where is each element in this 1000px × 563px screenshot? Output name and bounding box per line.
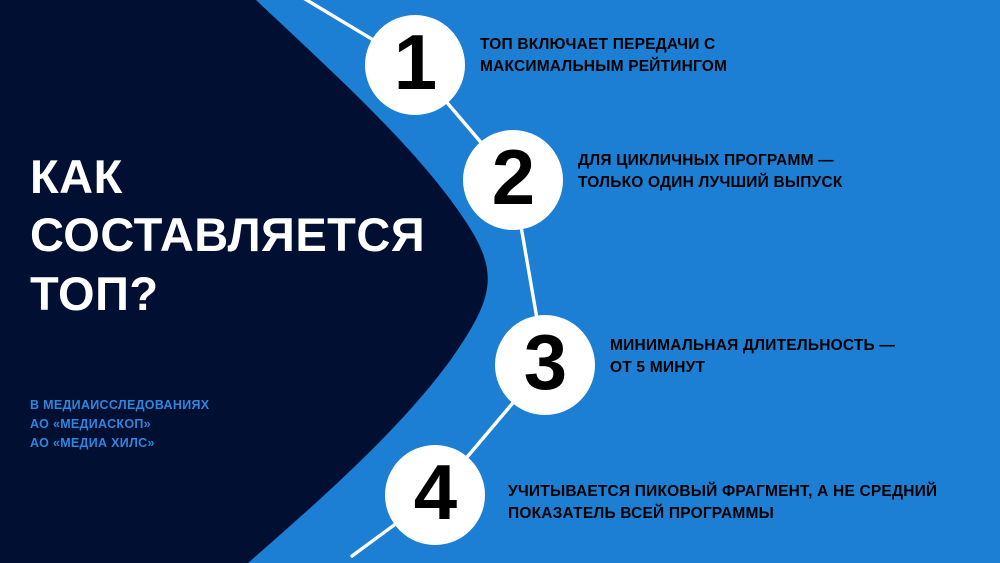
step-text-4: УЧИТЫВАЕТСЯ ПИКОВЫЙ ФРАГМЕНТ, А НЕ СРЕДН… [508,481,937,525]
step-number-3: 3 [524,323,566,401]
step-text-2-line-1: ДЛЯ ЦИКЛИЧНЫХ ПРОГРАММ — [578,150,843,172]
step-text-1-line-1: ТОП ВКЛЮЧАЕТ ПЕРЕДАЧИ С [480,34,727,56]
step-circle-4[interactable]: 4 [385,445,485,545]
title-line-3: ТОП? [30,265,430,323]
step-number-4: 4 [414,453,456,531]
source-line-1: В МЕДИАИССЛЕДОВАНИЯХ [30,396,209,415]
infographic-slide: КАК СОСТАВЛЯЕТСЯ ТОП? В МЕДИАИССЛЕДОВАНИ… [0,0,1000,563]
step-circle-2[interactable]: 2 [463,130,563,230]
step-text-4-line-2: ПОКАЗАТЕЛЬ ВСЕЙ ПРОГРАММЫ [508,503,937,525]
page-title: КАК СОСТАВЛЯЕТСЯ ТОП? [30,148,430,323]
source-caption: В МЕДИАИССЛЕДОВАНИЯХ АО «МЕДИАСКОП» АО «… [30,396,209,453]
step-text-3-line-2: ОТ 5 МИНУТ [610,357,895,379]
step-text-1: ТОП ВКЛЮЧАЕТ ПЕРЕДАЧИ С МАКСИМАЛЬНЫМ РЕЙ… [480,34,727,78]
title-line-1: КАК [30,148,430,206]
step-circle-3[interactable]: 3 [495,315,595,415]
source-line-3: АО «МЕДИА ХИЛС» [30,434,209,453]
step-text-2-line-2: ТОЛЬКО ОДИН ЛУЧШИЙ ВЫПУСК [578,172,843,194]
step-text-3: МИНИМАЛЬНАЯ ДЛИТЕЛЬНОСТЬ — ОТ 5 МИНУТ [610,335,895,379]
step-text-1-line-2: МАКСИМАЛЬНЫМ РЕЙТИНГОМ [480,56,727,78]
step-text-3-line-1: МИНИМАЛЬНАЯ ДЛИТЕЛЬНОСТЬ — [610,335,895,357]
source-line-2: АО «МЕДИАСКОП» [30,415,209,434]
title-line-2: СОСТАВЛЯЕТСЯ [30,206,430,264]
step-text-2: ДЛЯ ЦИКЛИЧНЫХ ПРОГРАММ — ТОЛЬКО ОДИН ЛУЧ… [578,150,843,194]
step-number-1: 1 [394,23,436,101]
step-number-2: 2 [492,138,534,216]
step-text-4-line-1: УЧИТЫВАЕТСЯ ПИКОВЫЙ ФРАГМЕНТ, А НЕ СРЕДН… [508,481,937,503]
step-circle-1[interactable]: 1 [365,15,465,115]
